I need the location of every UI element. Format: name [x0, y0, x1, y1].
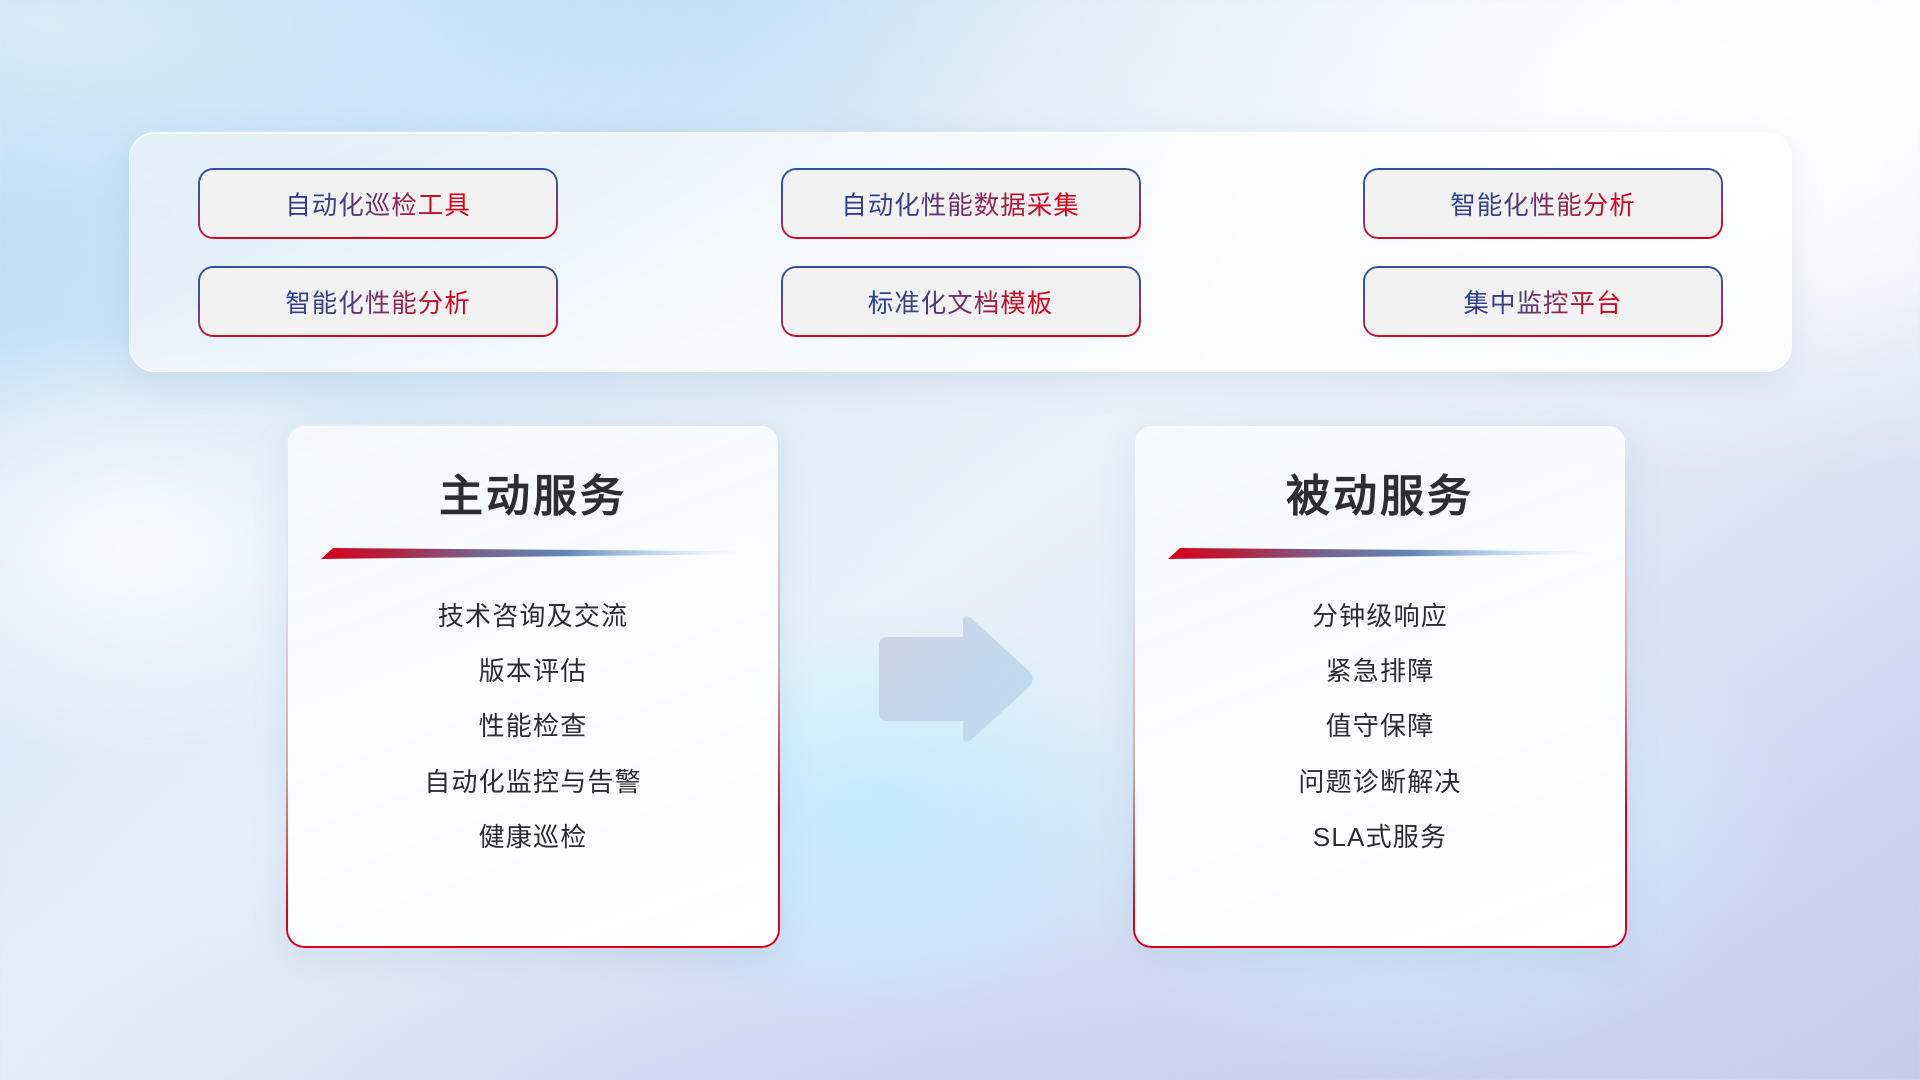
title-divider: [1168, 548, 1592, 559]
capability-tag[interactable]: 智能化性能分析: [1365, 170, 1721, 237]
list-item: 问题诊断解决: [1133, 755, 1627, 810]
capability-tag[interactable]: 自动化巡检工具: [200, 170, 556, 237]
service-card-active: 主动服务 技术咨询及交流 版本评估 性能检查 自动化监控与告警 健康巡检: [286, 424, 780, 948]
list-item: SLA式服务: [1133, 810, 1627, 865]
right-arrow-icon: [873, 613, 1036, 745]
service-card-passive: 被动服务 分钟级响应 紧急排障 值守保障 问题诊断解决 SLA式服务: [1133, 424, 1627, 948]
capability-tag[interactable]: 智能化性能分析: [200, 268, 556, 335]
title-divider: [321, 548, 745, 559]
capability-tag-row-2: 智能化性能分析 标准化文档模板 集中监控平台: [200, 268, 1721, 335]
service-card-title: 被动服务: [1133, 460, 1627, 524]
capability-tag[interactable]: 集中监控平台: [1365, 268, 1721, 335]
list-item: 自动化监控与告警: [286, 755, 780, 810]
service-card-list: 分钟级响应 紧急排障 值守保障 问题诊断解决 SLA式服务: [1133, 589, 1627, 865]
service-card-list: 技术咨询及交流 版本评估 性能检查 自动化监控与告警 健康巡检: [286, 589, 780, 865]
list-item: 版本评估: [286, 644, 780, 699]
capability-tag-label: 智能化性能分析: [285, 283, 471, 320]
capability-tags-panel: 自动化巡检工具 自动化性能数据采集 智能化性能分析 智能化性能分析 标准化文档模…: [129, 132, 1792, 372]
list-item: 技术咨询及交流: [286, 589, 780, 644]
list-item: 紧急排障: [1133, 644, 1627, 699]
list-item: 健康巡检: [286, 810, 780, 865]
capability-tag-label: 标准化文档模板: [868, 283, 1054, 320]
service-card-title: 主动服务: [286, 460, 780, 524]
list-item: 分钟级响应: [1133, 589, 1627, 644]
capability-tag-label: 自动化性能数据采集: [841, 185, 1080, 222]
capability-tag-label: 自动化巡检工具: [285, 185, 471, 222]
capability-tag[interactable]: 自动化性能数据采集: [783, 170, 1139, 237]
capability-tag[interactable]: 标准化文档模板: [783, 268, 1139, 335]
capability-tag-label: 智能化性能分析: [1450, 185, 1636, 222]
capability-tag-label: 集中监控平台: [1463, 283, 1622, 320]
capability-tag-row-1: 自动化巡检工具 自动化性能数据采集 智能化性能分析: [200, 170, 1721, 237]
list-item: 值守保障: [1133, 699, 1627, 754]
list-item: 性能检查: [286, 699, 780, 754]
